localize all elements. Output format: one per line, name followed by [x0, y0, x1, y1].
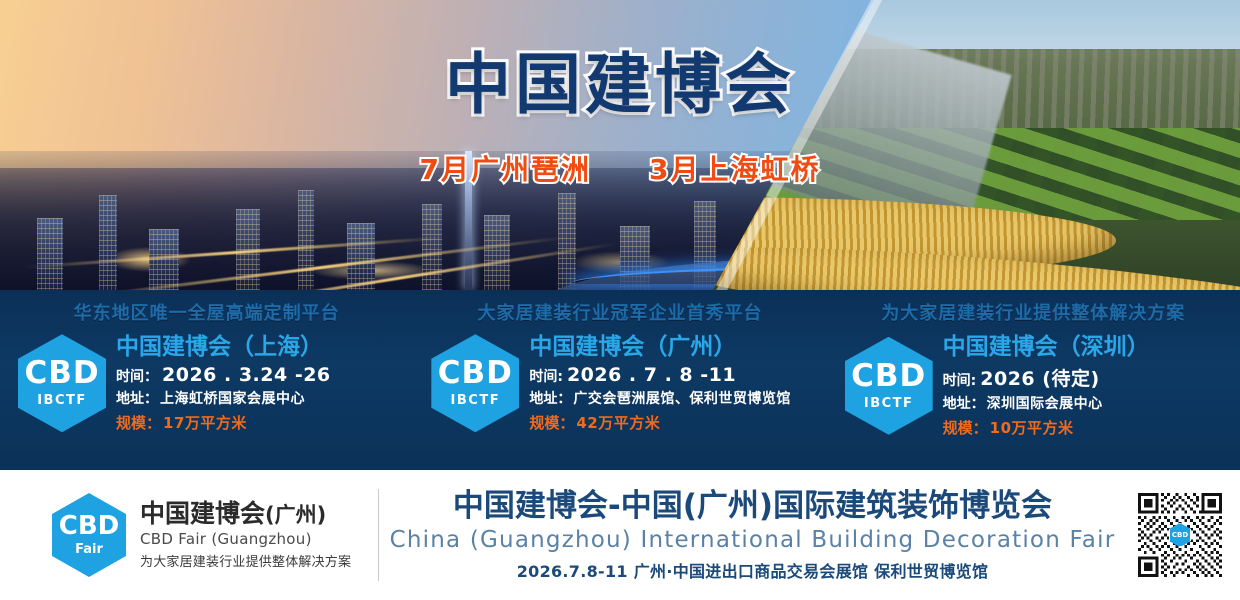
time-label: 时间:	[943, 370, 977, 390]
address-value: 广交会琶洲展馆、保利世贸博览馆	[573, 388, 791, 408]
footer-brand-cn: 中国建博会(广州)	[140, 500, 351, 529]
logo-ibctf-text: IBCTF	[451, 393, 501, 408]
logo-cbd-text: CBD	[438, 358, 513, 389]
footer-brand-en: CBD Fair (Guangzhou)	[140, 530, 351, 548]
footer-brand-cn-main: 中国建博会	[140, 499, 265, 528]
scale-label: 规模：	[943, 417, 988, 438]
logo-ibctf-text: IBCTF	[864, 396, 914, 411]
footer-title-meta: 2026.7.8-11 广州·中国进出口商品交易会展馆 保利世贸博览馆	[385, 558, 1120, 582]
logo-cbd-text: CBD	[24, 358, 99, 389]
card-headline: 中国建博会（上海）	[116, 334, 331, 362]
card-tagline: 华东地区唯一全屋高端定制平台	[0, 299, 413, 325]
qr-code-icon[interactable]: CBD	[1138, 493, 1222, 577]
time-value: 2026 . 3.24 -26	[162, 364, 331, 386]
address-label: 地址：	[529, 388, 571, 408]
card-headline: 中国建博会（广州）	[529, 334, 791, 362]
address-value: 上海虹桥国家会展中心	[160, 388, 305, 408]
footer-brand-slogan: 为大家居建装行业提供整体解决方案	[140, 551, 351, 570]
scale-value: 42万平方米	[576, 412, 660, 433]
time-label: 时间:	[529, 366, 563, 386]
hero-subtitle-guangzhou: 7月广州琶洲	[420, 148, 591, 188]
address-label: 地址：	[116, 388, 158, 408]
logo-cbd-text: CBD	[851, 361, 926, 392]
cbd-hexagon-logo-icon: CBD IBCTF	[431, 334, 519, 432]
scale-value: 10万平方米	[990, 417, 1074, 438]
time-label: 时间：	[116, 366, 158, 386]
hero-subtitle-group: 7月广州琶洲 3月上海虹桥	[0, 148, 1240, 188]
time-value: 2026 (待定)	[980, 364, 1099, 391]
footer-section: CBD Fair 中国建博会(广州) CBD Fair (Guangzhou) …	[0, 470, 1240, 600]
city-card-shenzhen[interactable]: 为大家居建装行业提供整体解决方案 CBD IBCTF 中国建博会（深圳） 时间:…	[827, 290, 1240, 470]
footer-brand-cn-suffix: (广州)	[265, 503, 326, 527]
time-value: 2026 . 7 . 8 -11	[567, 364, 736, 386]
scale-label: 规模：	[529, 412, 574, 433]
card-headline: 中国建博会（深圳）	[943, 334, 1150, 362]
address-value: 深圳国际会展中心	[987, 393, 1103, 413]
city-card-guangzhou[interactable]: 大家居建装行业冠军企业首秀平台 CBD IBCTF 中国建博会（广州） 时间: …	[413, 290, 826, 470]
footer-qr-block[interactable]: CBD	[1120, 493, 1240, 577]
logo-ibctf-text: IBCTF	[37, 393, 87, 408]
scale-label: 规模：	[116, 412, 161, 433]
logo-cbd-text: CBD	[59, 513, 119, 539]
hero-section: 中国建博会 7月广州琶洲 3月上海虹桥	[0, 0, 1240, 290]
card-tagline: 为大家居建装行业提供整体解决方案	[827, 299, 1240, 325]
city-cards-section: 华东地区唯一全屋高端定制平台 CBD IBCTF 中国建博会（上海） 时间： 2…	[0, 290, 1240, 470]
footer-title-en: China (Guangzhou) International Building…	[385, 527, 1120, 553]
scale-value: 17万平方米	[163, 412, 247, 433]
cbd-fair-hexagon-logo-icon: CBD Fair	[52, 493, 126, 577]
footer-event-title-block: 中国建博会-中国(广州)国际建筑装饰博览会 China (Guangzhou) …	[379, 488, 1120, 581]
event-promo-banner: 中国建博会 7月广州琶洲 3月上海虹桥 华东地区唯一全屋高端定制平台 CBD I…	[0, 0, 1240, 600]
city-card-shanghai[interactable]: 华东地区唯一全屋高端定制平台 CBD IBCTF 中国建博会（上海） 时间： 2…	[0, 290, 413, 470]
hero-title: 中国建博会	[0, 52, 1240, 118]
footer-title-cn: 中国建博会-中国(广州)国际建筑装饰博览会	[385, 488, 1120, 525]
footer-brand-logo[interactable]: CBD Fair 中国建博会(广州) CBD Fair (Guangzhou) …	[0, 493, 378, 577]
logo-fair-text: Fair	[75, 542, 103, 557]
cbd-hexagon-logo-icon: CBD IBCTF	[18, 334, 106, 432]
card-tagline: 大家居建装行业冠军企业首秀平台	[413, 299, 826, 325]
cbd-hexagon-logo-icon: CBD IBCTF	[845, 337, 933, 435]
hero-subtitle-shanghai: 3月上海虹桥	[649, 148, 820, 188]
address-label: 地址：	[943, 393, 985, 413]
